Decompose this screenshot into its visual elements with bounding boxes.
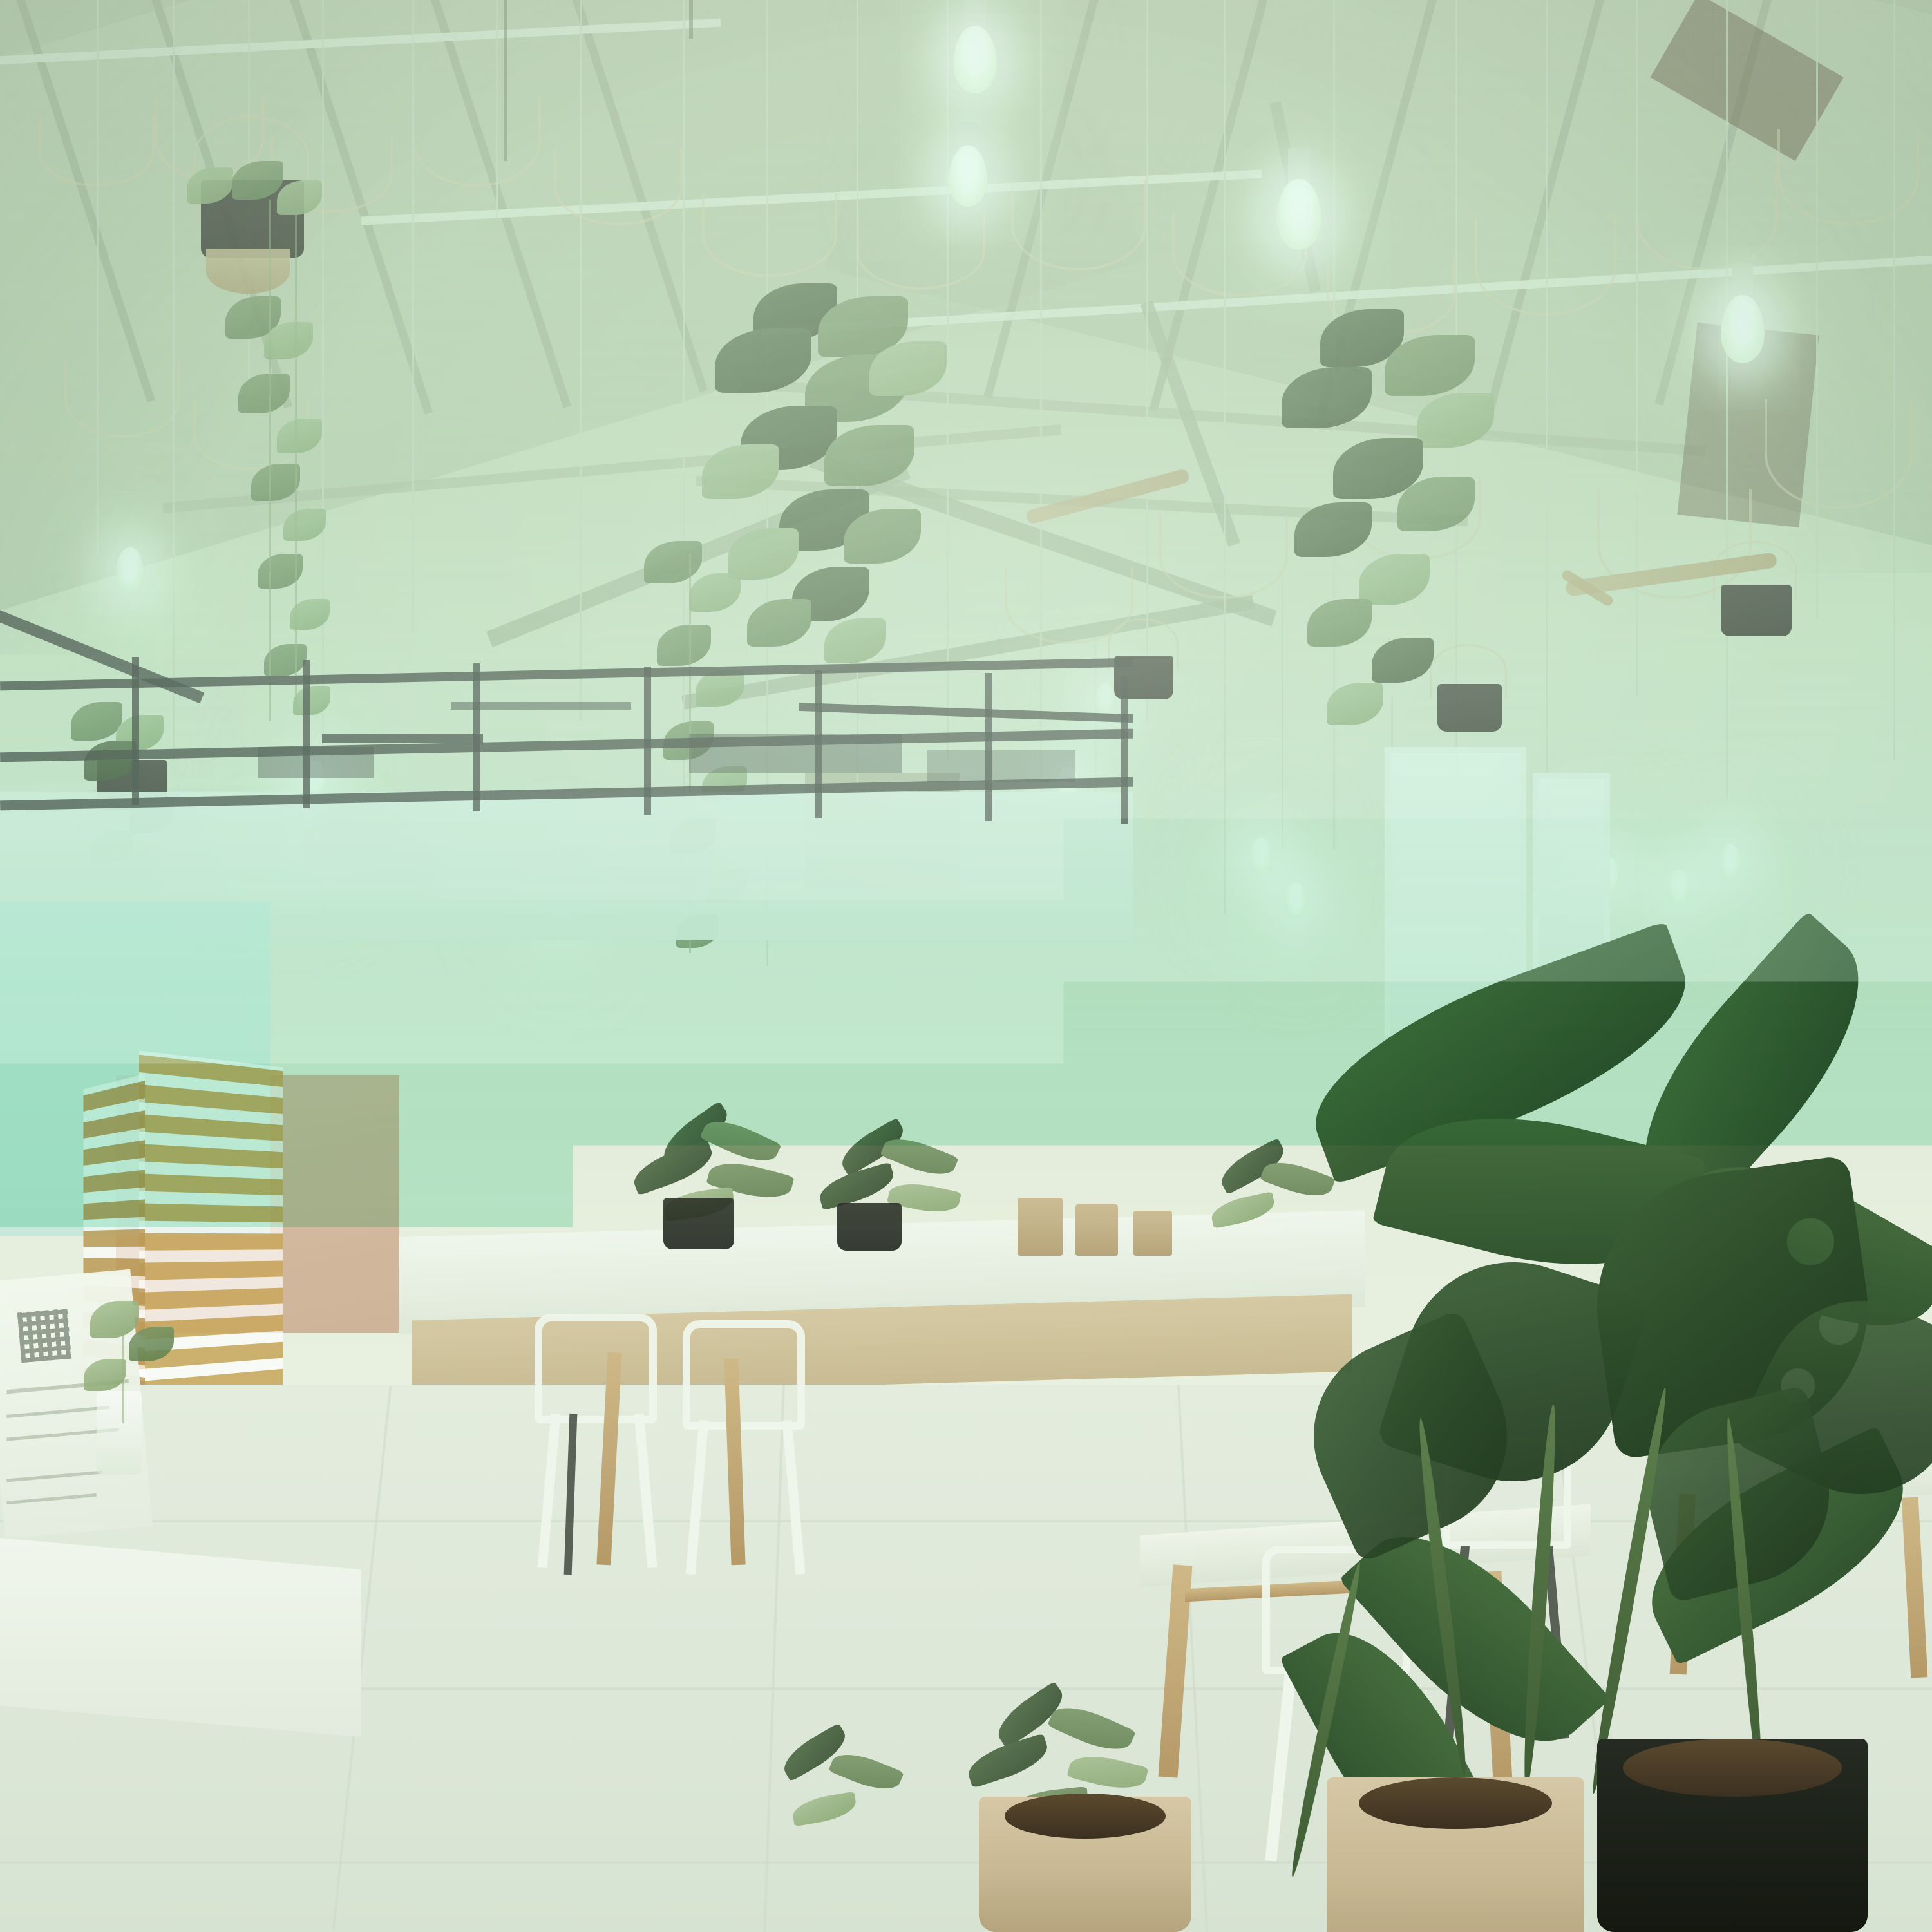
- artist-name: Chilly Swing Band: [291, 793, 1643, 1756]
- cover-typography: Chilly Swing Band Acoustic Music To List…: [0, 0, 1932, 1932]
- album-subtitle: Acoustic Music To Listen To In The Comfo…: [127, 1803, 1805, 1865]
- album-cover: Chilly Swing Band Acoustic Music To List…: [0, 0, 1932, 1932]
